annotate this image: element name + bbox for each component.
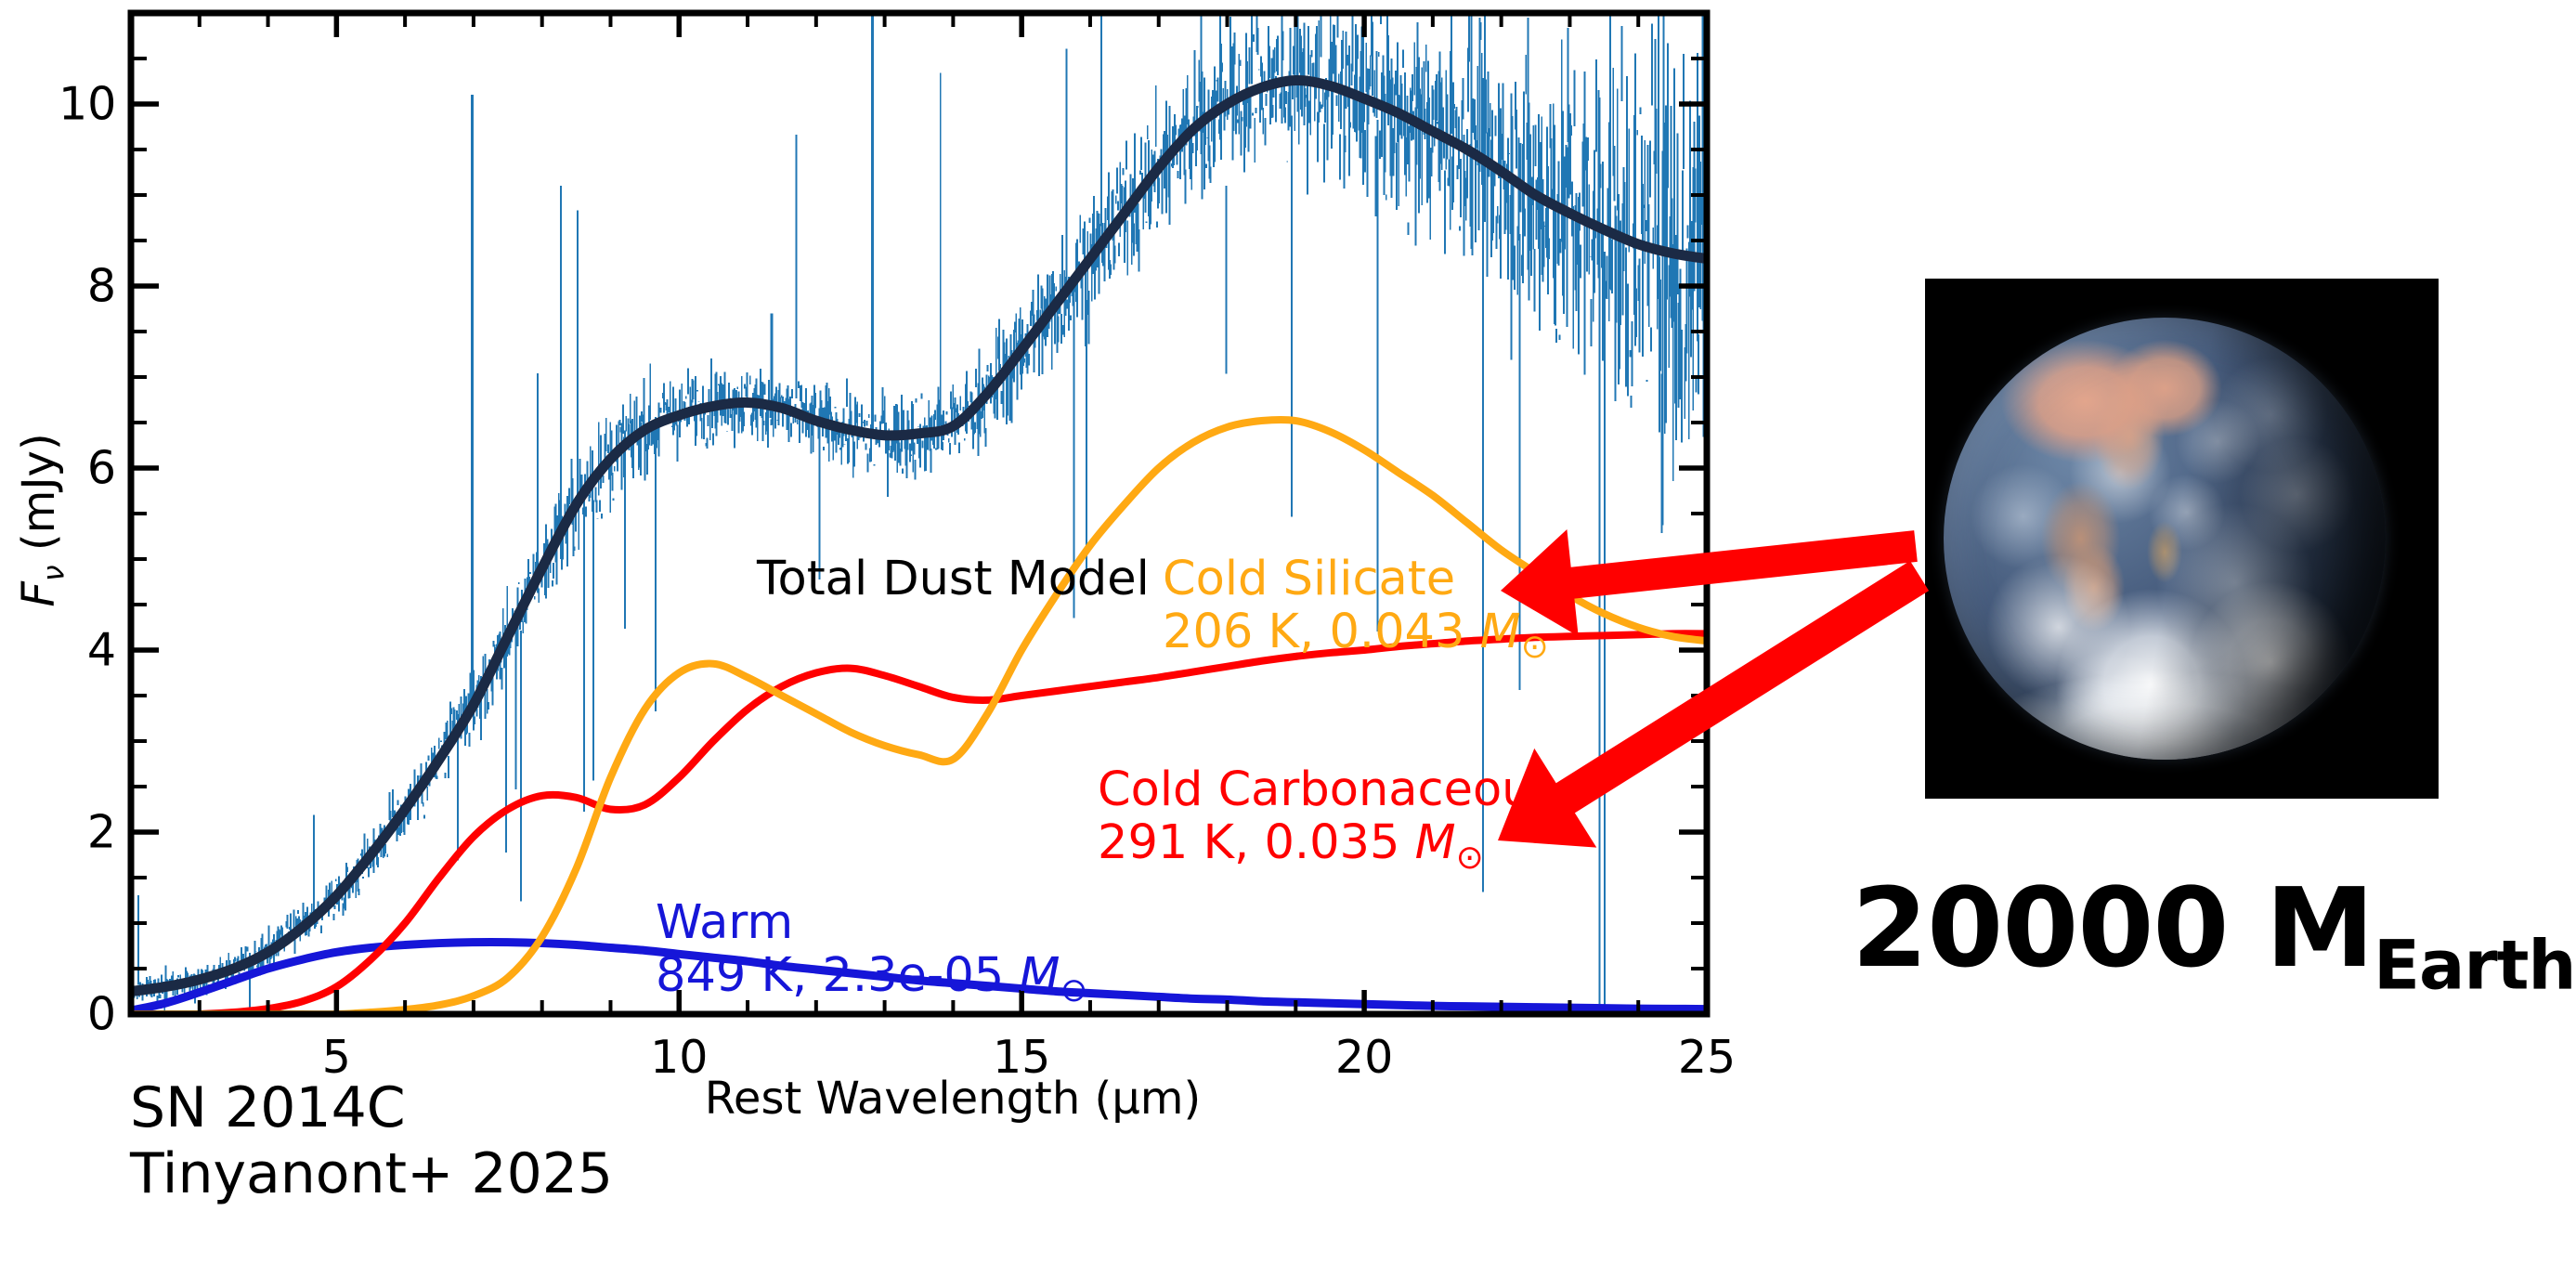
- y-tick-label: 8: [59, 260, 116, 313]
- y-axis-title: Fν (mJy): [13, 433, 72, 606]
- figure-root: 5101520250246810 Rest Wavelength (μm) Fν…: [0, 0, 2576, 1263]
- x-tick-label: 20: [1335, 1031, 1393, 1084]
- annotation-cold-carbonaceous: Cold Carbonaceous 291 K, 0.035 M⊙: [1098, 763, 1556, 877]
- earth-blue-marble-image: [1925, 279, 2439, 799]
- y-tick-label: 0: [59, 988, 116, 1041]
- figure-caption: SN 2014C Tinyanont+ 2025: [130, 1075, 613, 1207]
- y-tick-label: 10: [59, 78, 116, 131]
- annotation-carbon-params: 291 K, 0.035 M⊙: [1098, 816, 1556, 877]
- y-axis-unit: (mJy): [13, 433, 65, 565]
- annotation-carbon-label: Cold Carbonaceous: [1098, 763, 1556, 816]
- annotation-silicate-params: 206 K, 0.043 M⊙: [1163, 605, 1549, 666]
- warm-mass-unit: M⊙: [1019, 948, 1087, 1003]
- x-tick-label: 25: [1678, 1031, 1736, 1084]
- y-axis-symbol: F: [13, 581, 65, 607]
- y-tick-label: 4: [59, 624, 116, 677]
- silicate-mass: 0.043: [1329, 605, 1464, 659]
- annotation-cold-silicate: Cold Silicate 206 K, 0.043 M⊙: [1163, 553, 1549, 666]
- y-tick-label: 2: [59, 806, 116, 859]
- x-axis-title: Rest Wavelength (μm): [705, 1073, 1202, 1125]
- caption-citation: Tinyanont+ 2025: [130, 1141, 613, 1207]
- silicate-temp: 206 K: [1163, 605, 1299, 659]
- y-axis-subscript: ν: [38, 565, 72, 581]
- carbon-mass-unit: M⊙: [1415, 815, 1484, 870]
- annotation-silicate-label: Cold Silicate: [1163, 553, 1549, 605]
- carbon-temp: 291 K: [1098, 815, 1234, 870]
- caption-object-name: SN 2014C: [130, 1075, 613, 1141]
- x-tick-label: 10: [650, 1031, 708, 1084]
- warm-temp: 849 K: [656, 948, 792, 1003]
- mass-value: 20000 M: [1852, 864, 2374, 992]
- mass-comparison-label: 20000 MEarth: [1852, 864, 2576, 1006]
- annotation-total-dust-model: Total Dust Model: [757, 553, 1150, 605]
- annotation-warm-params: 849 K, 2.3e-05 M⊙: [656, 949, 1087, 1009]
- annotation-total-label: Total Dust Model: [757, 553, 1150, 605]
- earth-globe-icon: [1944, 318, 2386, 760]
- earth-comparison-block: [1925, 279, 2439, 799]
- annotation-warm-label: Warm: [656, 896, 1087, 949]
- carbon-mass: 0.035: [1264, 815, 1399, 870]
- annotation-warm-dust: Warm 849 K, 2.3e-05 M⊙: [656, 896, 1087, 1009]
- warm-mass: 2.3e-05: [822, 948, 1004, 1003]
- silicate-mass-unit: M⊙: [1480, 605, 1549, 659]
- mass-unit-subscript: Earth: [2374, 927, 2575, 1006]
